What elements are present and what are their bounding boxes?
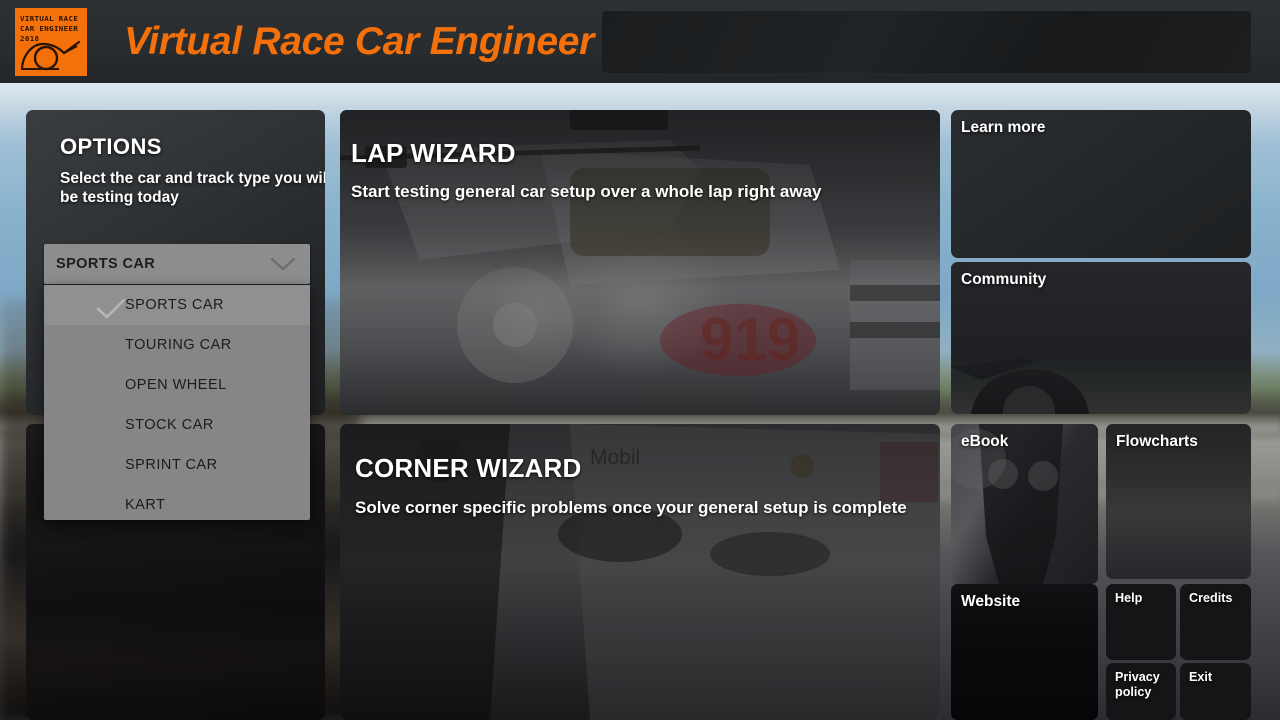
exit-label: Exit (1189, 670, 1251, 685)
car-type-option-list[interactable]: SPORTS CARTOURING CAROPEN WHEELSTOCK CAR… (44, 285, 310, 520)
help-tile[interactable]: Help (1106, 584, 1176, 660)
lap-wizard-title: LAP WIZARD (351, 138, 516, 169)
credits-tile[interactable]: Credits (1180, 584, 1251, 660)
corner-wizard-title: CORNER WIZARD (355, 453, 581, 484)
car-type-option-label: TOURING CAR (125, 337, 232, 353)
flowcharts-tile[interactable]: Flowcharts (1106, 424, 1251, 579)
website-tile[interactable]: Website (951, 584, 1098, 720)
corner-wizard-subtitle: Solve corner specific problems once your… (355, 498, 907, 518)
page-title: Virtual Race Car Engineer (124, 20, 594, 64)
logo-car-icon (19, 35, 81, 71)
car-type-option[interactable]: SPORTS CAR (44, 285, 310, 325)
corner-wizard-tile[interactable]: Mobil CORNER WIZARD Solve corner specifi… (340, 424, 940, 720)
app-window: VIRTUAL RACE CAR ENGINEER 2018 Virtual R… (0, 0, 1280, 720)
car-type-option[interactable]: SPRINT CAR (44, 445, 310, 485)
car-type-select[interactable]: SPORTS CAR (44, 244, 310, 284)
car-type-option[interactable]: STOCK CAR (44, 405, 310, 445)
ebook-tile[interactable]: eBook (951, 424, 1098, 584)
car-type-select-value: SPORTS CAR (56, 256, 155, 272)
website-label: Website (961, 593, 1020, 611)
community-tile[interactable]: Community (951, 262, 1251, 414)
exit-tile[interactable]: Exit (1180, 663, 1251, 720)
check-icon (96, 298, 126, 320)
options-title: OPTIONS (60, 134, 162, 160)
app-header: VIRTUAL RACE CAR ENGINEER 2018 Virtual R… (0, 0, 1280, 83)
help-label: Help (1115, 591, 1176, 606)
car-type-option-label: KART (125, 497, 165, 513)
header-banner-panel[interactable] (602, 11, 1251, 73)
flowcharts-label: Flowcharts (1116, 433, 1198, 451)
car-type-option[interactable]: OPEN WHEEL (44, 365, 310, 405)
app-logo[interactable]: VIRTUAL RACE CAR ENGINEER 2018 (15, 8, 87, 76)
options-subtitle: Select the car and track type you will b… (60, 169, 325, 207)
lap-wizard-subtitle: Start testing general car setup over a w… (351, 182, 821, 202)
learn-more-tile[interactable]: Learn more (951, 110, 1251, 258)
credits-label: Credits (1189, 591, 1251, 606)
community-label: Community (961, 271, 1046, 289)
car-type-option-label: SPORTS CAR (125, 297, 224, 313)
ebook-label: eBook (961, 433, 1008, 451)
car-type-option-label: OPEN WHEEL (125, 377, 227, 393)
lap-wizard-tile[interactable]: 919 LAP WIZARD Start testing general car… (340, 110, 940, 415)
learn-more-label: Learn more (961, 119, 1045, 137)
car-type-option-label: SPRINT CAR (125, 457, 218, 473)
car-type-option-label: STOCK CAR (125, 417, 214, 433)
car-type-option[interactable]: TOURING CAR (44, 325, 310, 365)
privacy-policy-tile[interactable]: Privacy policy (1106, 663, 1176, 720)
chevron-down-icon (270, 257, 296, 272)
privacy-policy-label: Privacy policy (1115, 670, 1176, 700)
car-type-option[interactable]: KART (44, 485, 310, 520)
